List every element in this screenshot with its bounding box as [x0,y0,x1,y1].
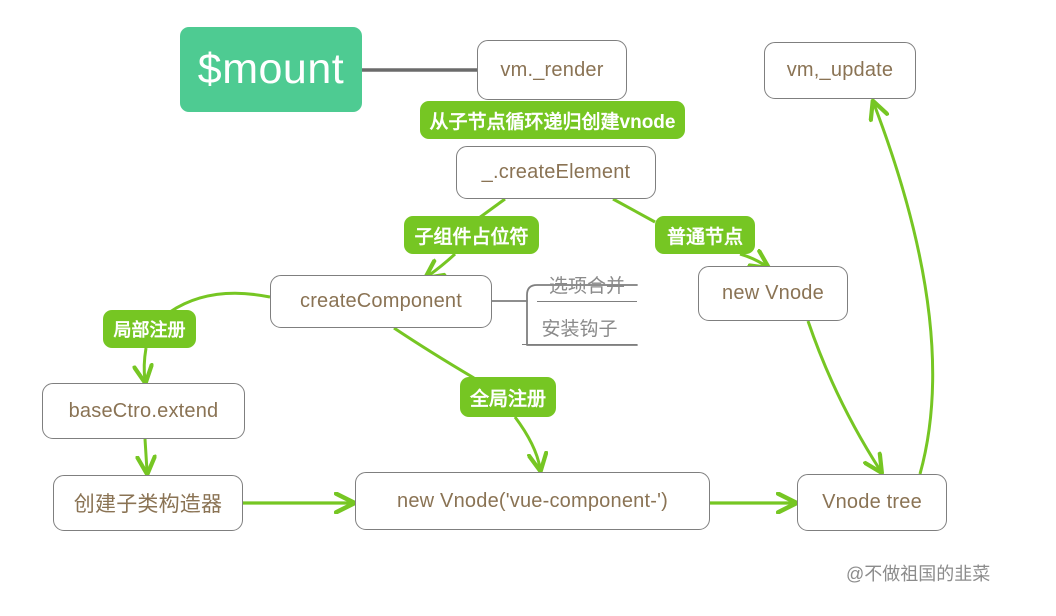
edge-label-global-registration-text: 全局注册 [470,384,546,411]
node-base-ctor-extend-label: baseCtro.extend [69,400,219,423]
node-vm-render[interactable]: vm._render [477,40,627,100]
node-vnode-tree-label: Vnode tree [822,491,922,514]
node-mount[interactable]: $mount [180,27,362,112]
node-mount-label: $mount [198,45,344,94]
edge-label-child-component-placeholder-text: 子组件占位符 [414,222,528,249]
edge-newvnode-to-vnodetree [808,321,880,470]
node-sub-constructor[interactable]: 创建子类构造器 [53,475,243,531]
edge-label-recursive-create-vnode[interactable]: 从子节点循环递归创建vnode [420,101,685,139]
sublabel-options-merge-text: 选项合并 [549,271,625,298]
node-vnode-tree[interactable]: Vnode tree [797,474,947,531]
sublabel-options-merge: 选项合并 [537,268,637,302]
edge-childslot-to-createcomponent [428,254,455,276]
node-create-component[interactable]: createComponent [270,275,492,328]
edge-createcomponent-to-globalreg [394,328,474,378]
edge-label-local-registration[interactable]: 局部注册 [103,310,196,348]
node-vm-render-label: vm._render [500,59,603,82]
sublabel-install-hooks: 安装钩子 [522,311,637,345]
edge-label-local-registration-text: 局部注册 [114,316,186,342]
edge-label-recursive-create-vnode-text: 从子节点循环递归创建vnode [430,107,676,134]
edge-vnodetree-to-vmupdate [874,104,933,474]
edge-label-plain-node[interactable]: 普通节点 [655,216,755,254]
sublabel-install-hooks-text: 安装钩子 [541,314,617,341]
edge-baseextend-to-subctor [145,439,147,471]
edge-localreg-to-baseextend [144,348,146,380]
node-vm-update-label: vm,_update [787,59,894,82]
node-new-vnode[interactable]: new Vnode [698,266,848,321]
node-new-vnode-component[interactable]: new Vnode('vue-component-') [355,472,710,530]
diagram-canvas: $mount vm._render _.createElement create… [0,0,1056,616]
node-create-element[interactable]: _.createElement [456,146,656,199]
edge-globalreg-to-vnodecomponent [515,417,540,468]
node-vm-update[interactable]: vm,_update [764,42,916,99]
edge-label-plain-node-text: 普通节点 [667,222,743,249]
edge-label-child-component-placeholder[interactable]: 子组件占位符 [404,216,539,254]
node-create-component-label: createComponent [300,290,462,313]
node-base-ctor-extend[interactable]: baseCtro.extend [42,383,245,439]
node-create-element-label: _.createElement [482,161,631,184]
author-signature: @不做祖国的韭菜 [846,560,990,586]
node-new-vnode-label: new Vnode [722,282,824,305]
edge-createelement-to-plainnode [613,199,655,222]
node-sub-constructor-label: 创建子类构造器 [74,488,222,518]
edge-plainnode-to-newvnode [740,254,766,266]
node-new-vnode-component-label: new Vnode('vue-component-') [397,490,668,513]
edge-label-global-registration[interactable]: 全局注册 [460,377,556,417]
